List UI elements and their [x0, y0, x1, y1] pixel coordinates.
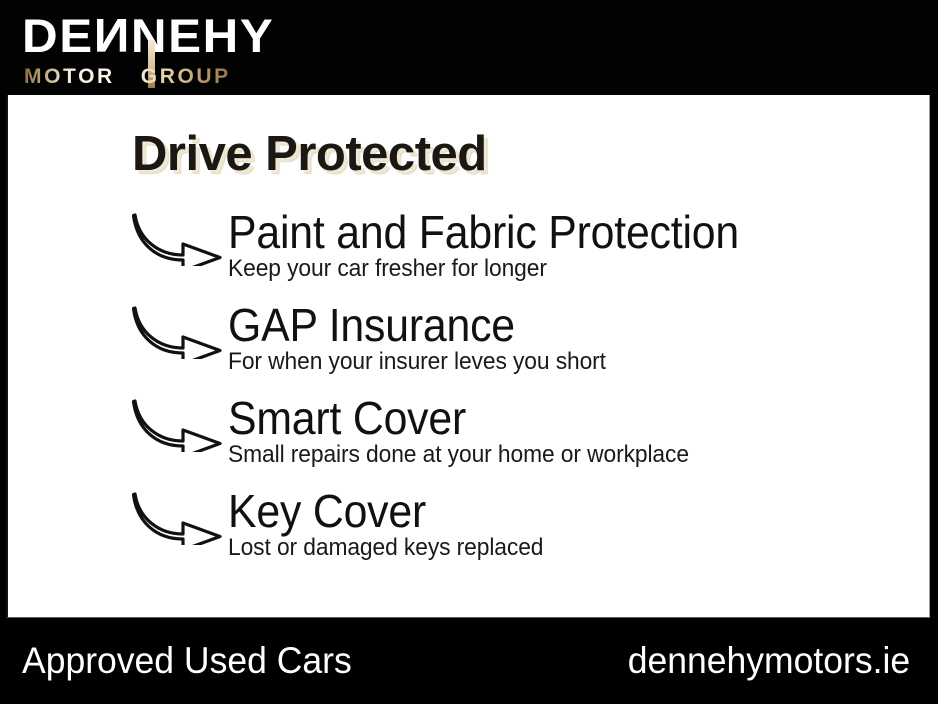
benefit-title: Smart Cover: [228, 393, 879, 443]
list-item: GAP Insurance For when your insurer leve…: [8, 300, 929, 393]
benefit-subtitle: For when your insurer leves you short: [228, 348, 893, 376]
header-bar: DENNEHY MOTORGROUP: [0, 0, 938, 95]
brand-wordmark-part1: DE: [22, 9, 94, 62]
brand-subline: MOTORGROUP: [24, 66, 231, 87]
list-item-text: GAP Insurance For when your insurer leve…: [228, 300, 928, 376]
dealer-promo-poster: DENNEHY MOTORGROUP Drive Protected Paint…: [0, 0, 938, 704]
list-item-text: Key Cover Lost or damaged keys replaced: [228, 486, 928, 562]
brand-subline-motor: MOTOR: [24, 65, 115, 88]
benefit-subtitle: Lost or damaged keys replaced: [228, 534, 893, 562]
benefit-title: Key Cover: [228, 486, 879, 536]
list-item: Paint and Fabric Protection Keep your ca…: [8, 207, 929, 300]
brand-subline-group: GROUP: [141, 65, 231, 88]
page-title: Drive Protected: [132, 127, 487, 181]
benefits-list: Paint and Fabric Protection Keep your ca…: [8, 207, 929, 579]
benefit-title: Paint and Fabric Protection: [228, 207, 879, 257]
curved-arrow-right-icon: [132, 304, 224, 359]
list-item: Smart Cover Small repairs done at your h…: [8, 393, 929, 486]
footer-bar: Approved Used Cars dennehymotors.ie: [0, 618, 938, 704]
curved-arrow-right-icon: [132, 397, 224, 452]
footer-website-link[interactable]: dennehymotors.ie: [628, 640, 910, 682]
curved-arrow-right-icon: [132, 211, 224, 266]
list-item-text: Smart Cover Small repairs done at your h…: [228, 393, 928, 469]
list-item: Key Cover Lost or damaged keys replaced: [8, 486, 929, 579]
benefit-subtitle: Keep your car fresher for longer: [228, 255, 893, 283]
benefit-title: GAP Insurance: [228, 300, 879, 350]
footer-tagline: Approved Used Cars: [22, 640, 352, 682]
curved-arrow-right-icon: [132, 490, 224, 545]
brand-wordmark-flipped-n: N: [94, 12, 131, 59]
list-item-text: Paint and Fabric Protection Keep your ca…: [228, 207, 928, 283]
benefit-subtitle: Small repairs done at your home or workp…: [228, 441, 893, 469]
brand-logo[interactable]: DENNEHY MOTORGROUP: [22, 12, 282, 87]
content-panel: Drive Protected Paint and Fabric Protect…: [6, 95, 930, 618]
